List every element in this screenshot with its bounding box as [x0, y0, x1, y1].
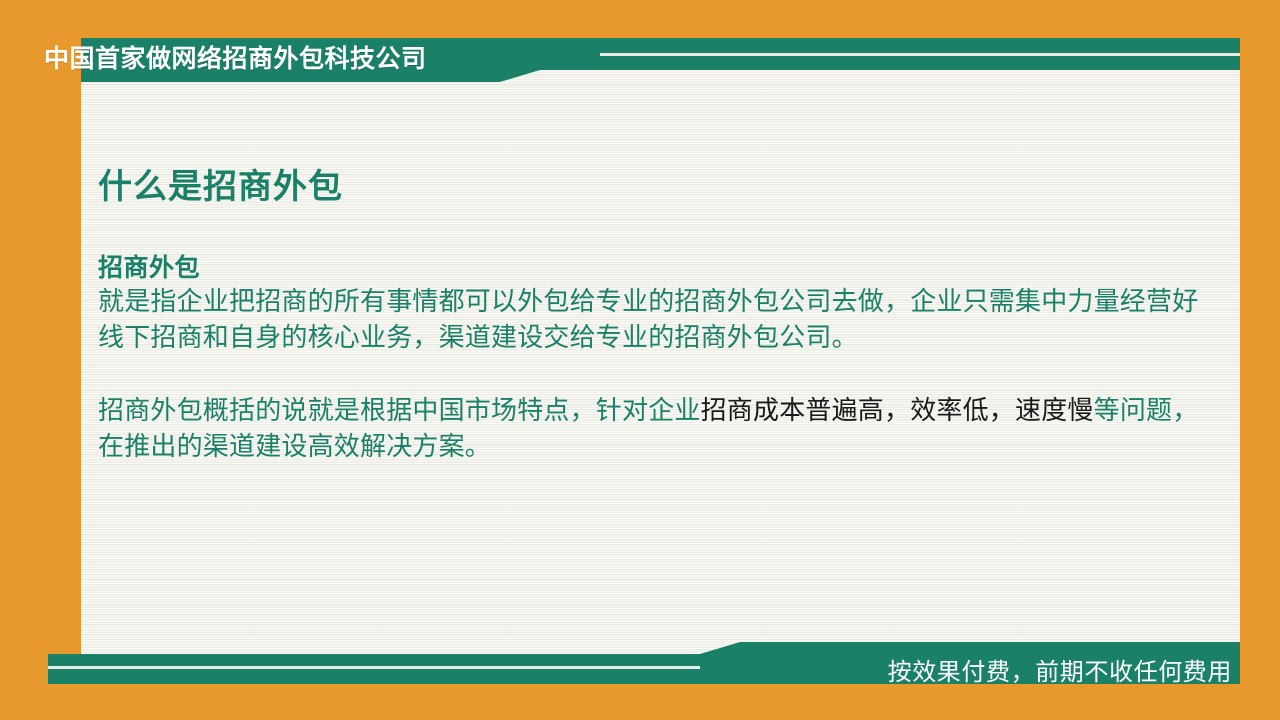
summary-segment-1: 招商外包概括的说就是根据中国市场特点，针对企业 [98, 396, 701, 426]
page-title: 什么是招商外包 [98, 165, 1228, 209]
header-band-hairline [600, 53, 1240, 56]
main-content: 什么是招商外包 招商外包 就是指企业把招商的所有事情都可以外包给专业的招商外包公… [98, 165, 1228, 465]
header-title: 中国首家做网络招商外包科技公司 [44, 44, 427, 74]
section-lead-label: 招商外包 [98, 251, 1228, 285]
slide: 中国首家做网络招商外包科技公司 什么是招商外包 招商外包 就是指企业把招商的所有… [0, 0, 1280, 720]
footer-tagline: 按效果付费，前期不收任何费用 [888, 657, 1232, 687]
paragraph-definition: 就是指企业把招商的所有事情都可以外包给专业的招商外包公司去做，企业只需集中力量经… [98, 285, 1218, 356]
paragraph-summary: 招商外包概括的说就是根据中国市场特点，针对企业招商成本普遍高，效率低，速度慢等问… [98, 394, 1218, 465]
summary-segment-2-emphasis: 招商成本普遍高，效率低，速度慢 [701, 396, 1094, 426]
footer-band-hairline [48, 666, 700, 669]
